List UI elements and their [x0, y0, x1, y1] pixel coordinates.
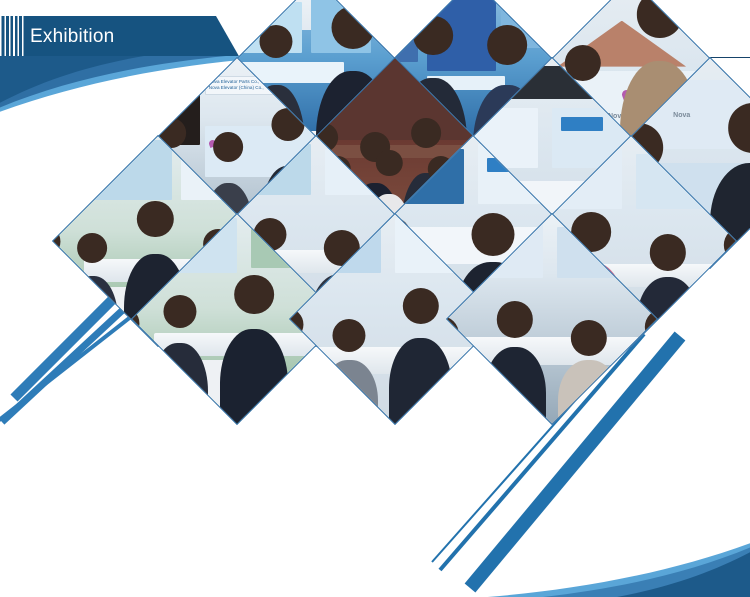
exhibition-banner-page: Exhibition	[0, 0, 750, 597]
nova-logo-text: Nova	[673, 112, 690, 119]
page-title: Exhibition	[30, 16, 114, 58]
header-stripe-decoration	[0, 16, 26, 58]
exhibition-photo-collage: Nova FXN Nova Elevator Pa	[0, 56, 750, 556]
fxn-logo-text: FXN	[131, 85, 168, 105]
